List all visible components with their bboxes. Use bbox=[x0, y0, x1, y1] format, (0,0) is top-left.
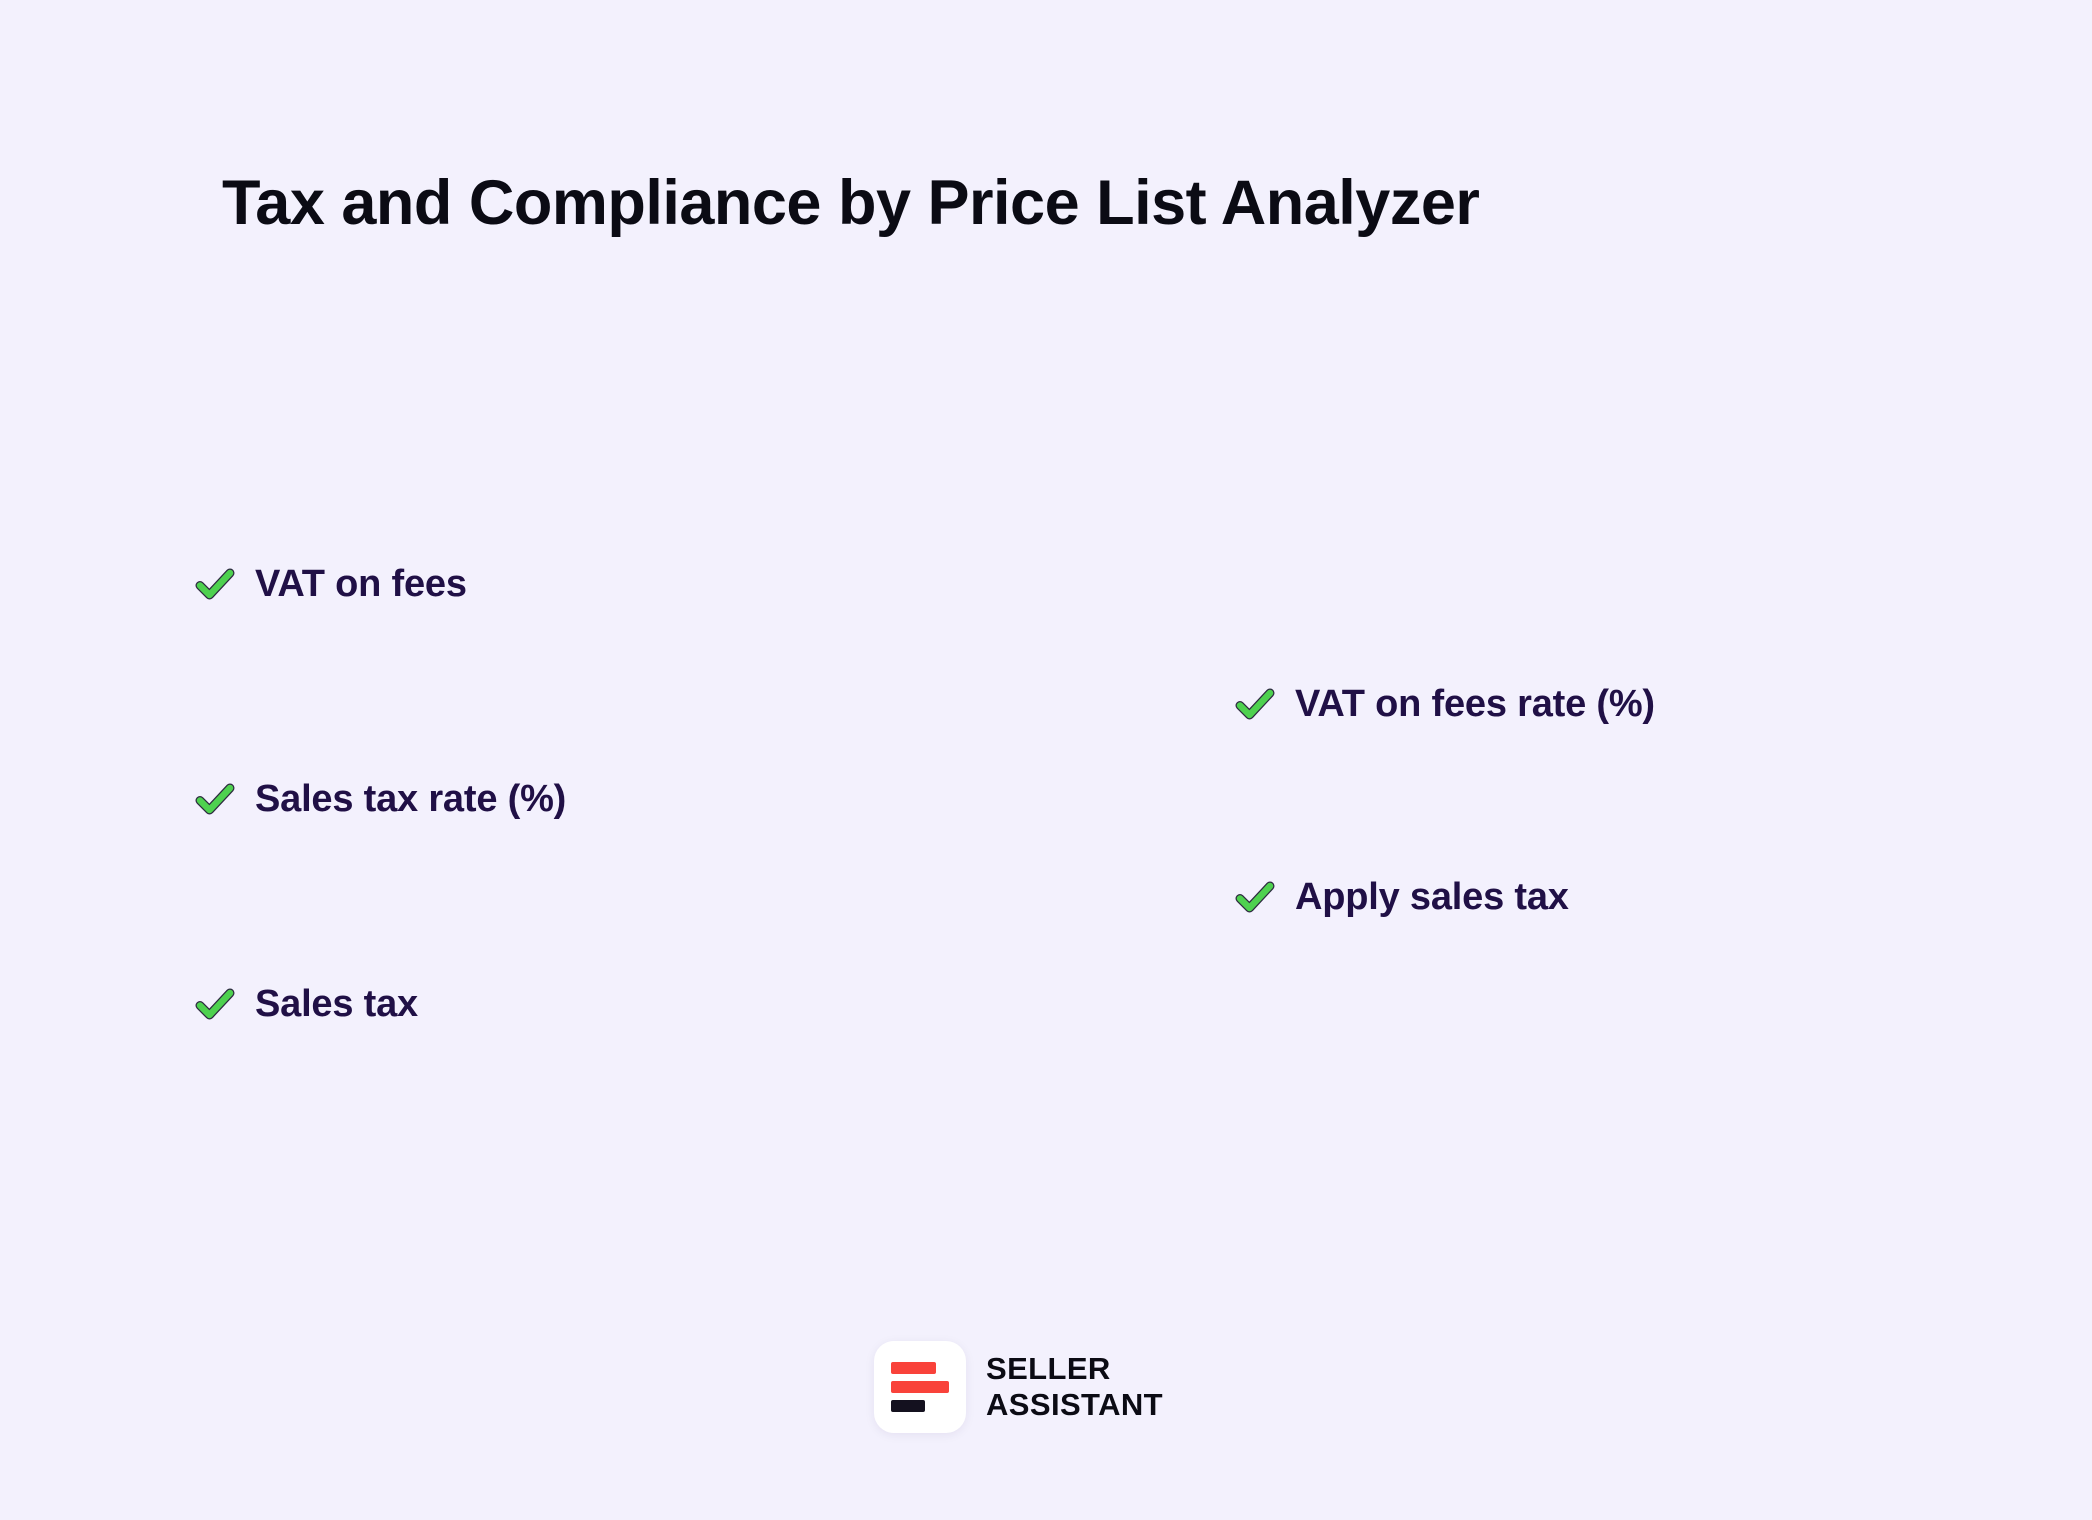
green-check-icon bbox=[193, 563, 237, 607]
green-check-icon bbox=[1233, 876, 1277, 920]
list-item: VAT on fees rate (%) bbox=[1233, 683, 1655, 727]
green-check-icon bbox=[1233, 683, 1277, 727]
list-item-label: Sales tax bbox=[255, 984, 418, 1026]
list-item: Sales tax bbox=[193, 983, 418, 1027]
feature-list: VAT on fees VAT on fees rate (%) Sales t… bbox=[0, 0, 2092, 1520]
seller-assistant-logo-icon bbox=[874, 1341, 966, 1433]
green-check-icon bbox=[193, 983, 237, 1027]
list-item-label: Apply sales tax bbox=[1295, 877, 1569, 919]
green-check-icon bbox=[193, 778, 237, 822]
brand-wordmark: SELLER ASSISTANT bbox=[986, 1351, 1163, 1423]
brand-footer: SELLER ASSISTANT bbox=[874, 1341, 1163, 1433]
brand-name-line-2: ASSISTANT bbox=[986, 1387, 1163, 1423]
list-item: Sales tax rate (%) bbox=[193, 778, 566, 822]
list-item-label: VAT on fees bbox=[255, 564, 467, 606]
list-item: Apply sales tax bbox=[1233, 876, 1569, 920]
list-item: VAT on fees bbox=[193, 563, 467, 607]
logo-bar-middle bbox=[891, 1381, 949, 1393]
logo-bar-top bbox=[891, 1362, 936, 1374]
brand-name-line-1: SELLER bbox=[986, 1351, 1163, 1387]
list-item-label: VAT on fees rate (%) bbox=[1295, 684, 1655, 726]
list-item-label: Sales tax rate (%) bbox=[255, 779, 566, 821]
logo-bar-bottom bbox=[891, 1400, 925, 1412]
slide-canvas: Tax and Compliance by Price List Analyze… bbox=[0, 0, 2092, 1520]
